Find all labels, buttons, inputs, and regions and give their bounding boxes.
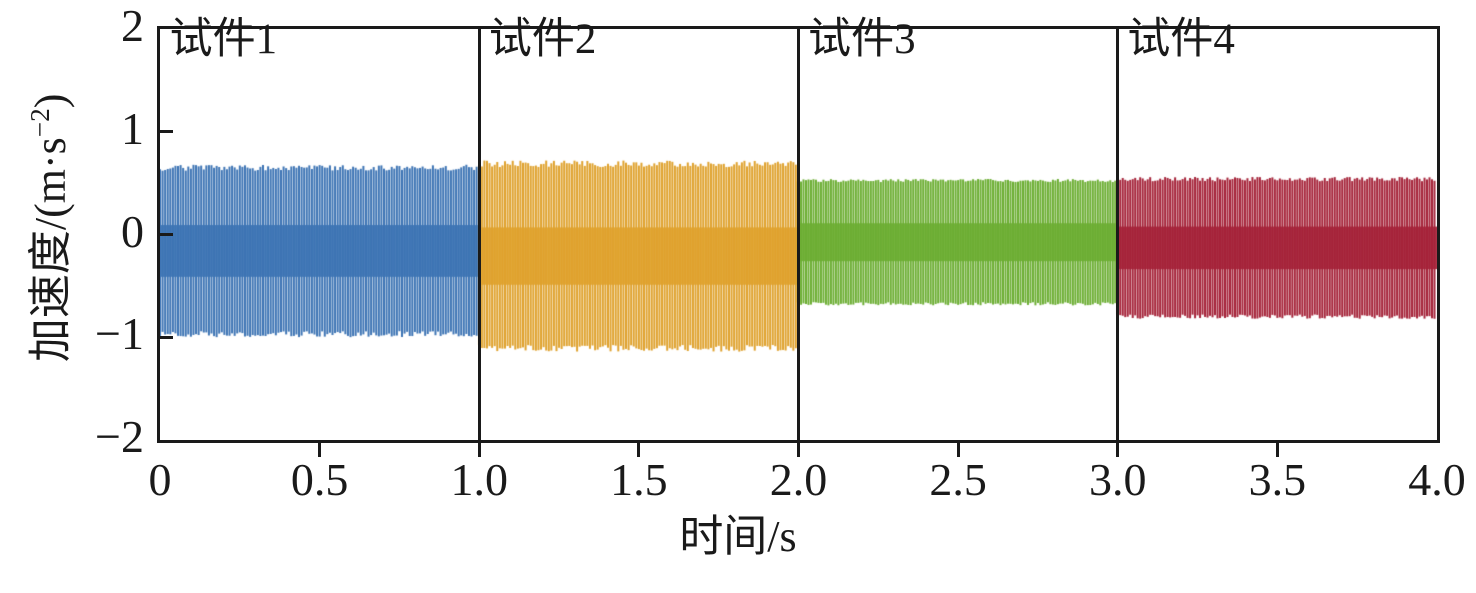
y-axis-title: 加速度/(m·s−2) (27, 18, 73, 438)
y-tick-label-2: 0 (121, 209, 144, 255)
x-tick-label-1: 0.5 (291, 457, 349, 503)
x-tick-label-2: 1.0 (451, 457, 509, 503)
panel-label-2: 试件2 (489, 18, 597, 61)
x-tick-label-0: 0 (149, 457, 172, 503)
panel-label-1: 试件1 (170, 18, 278, 61)
y-tick-mark-3 (157, 336, 173, 339)
y-tick-label-3: −1 (95, 311, 144, 357)
plot-area (157, 26, 1440, 443)
x-tick-label-6: 3.0 (1089, 457, 1147, 503)
x-tick-label-4: 2.0 (770, 457, 828, 503)
x-tick-label-7: 3.5 (1249, 457, 1307, 503)
y-axis-title-suffix: ) (26, 94, 75, 109)
panel-label-3: 试件3 (808, 18, 916, 61)
y-tick-label-0: 2 (121, 3, 144, 49)
panel-divider-3 (1116, 29, 1119, 440)
y-tick-mark-2 (157, 233, 173, 236)
acceleration-time-chart: 试件1试件2试件3试件4 210−1−2 00.51.01.52.02.53.0… (0, 0, 1476, 593)
x-tick-label-5: 2.5 (929, 457, 987, 503)
x-axis-title: 时间/s (0, 515, 1476, 559)
panel-divider-1 (478, 29, 481, 440)
y-axis-title-prefix: 加速度/(m·s (26, 137, 75, 362)
y-tick-label-1: 1 (121, 106, 144, 152)
y-tick-label-4: −2 (95, 414, 144, 460)
x-tick-label-3: 1.5 (610, 457, 668, 503)
y-axis-title-exponent: −2 (25, 108, 55, 137)
x-tick-label-8: 4.0 (1408, 457, 1466, 503)
panel-divider-2 (797, 29, 800, 440)
y-tick-mark-1 (157, 130, 173, 133)
panel-label-4: 试件4 (1127, 18, 1235, 61)
